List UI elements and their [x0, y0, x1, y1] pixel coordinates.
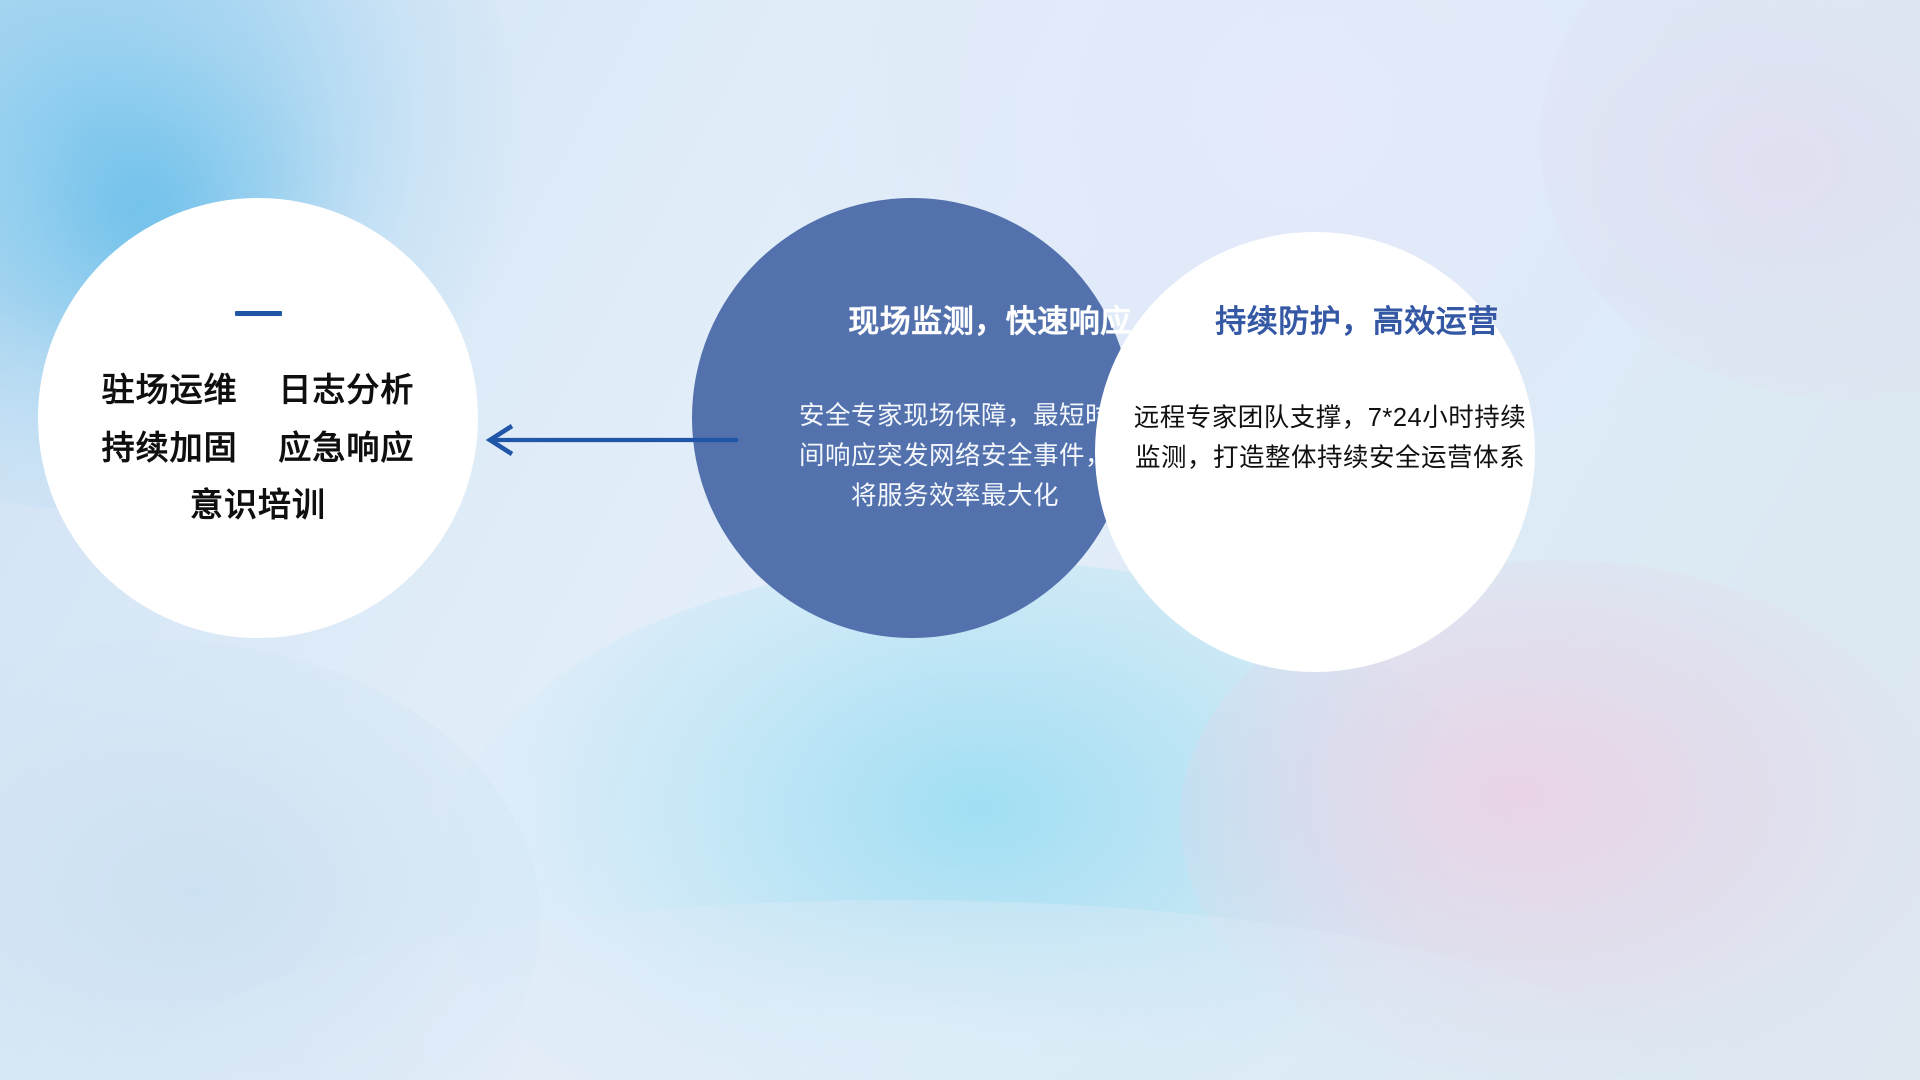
left-circle-line-2: 持续加固 应急响应 [102, 430, 415, 466]
left-circle-text-block: 驻场运维 日志分析 持续加固 应急响应 意识培训 [102, 372, 415, 523]
right-circle: 持续防护，高效运营 远程专家团队支撑，7*24小时持续监测，打造整体持续安全运营… [1095, 232, 1535, 672]
left-circle: 驻场运维 日志分析 持续加固 应急响应 意识培训 [38, 198, 478, 638]
left-circle-line-1: 驻场运维 日志分析 [102, 372, 415, 408]
middle-circle-body: 安全专家现场保障，最短时间响应突发网络安全事件，将服务效率最大化 [790, 397, 1120, 516]
left-circle-line-3: 意识培训 [190, 487, 326, 523]
right-circle-body: 远程专家团队支撑，7*24小时持续监测，打造整体持续安全运营体系 [1124, 399, 1536, 479]
left-circle-divider [235, 311, 282, 316]
middle-circle: 现场监测，快速响应 安全专家现场保障，最短时间响应突发网络安全事件，将服务效率最… [692, 198, 1132, 638]
middle-circle-heading: 现场监测，快速响应 [848, 296, 1132, 341]
right-circle-heading: 持续防护，高效运营 [1215, 296, 1499, 341]
